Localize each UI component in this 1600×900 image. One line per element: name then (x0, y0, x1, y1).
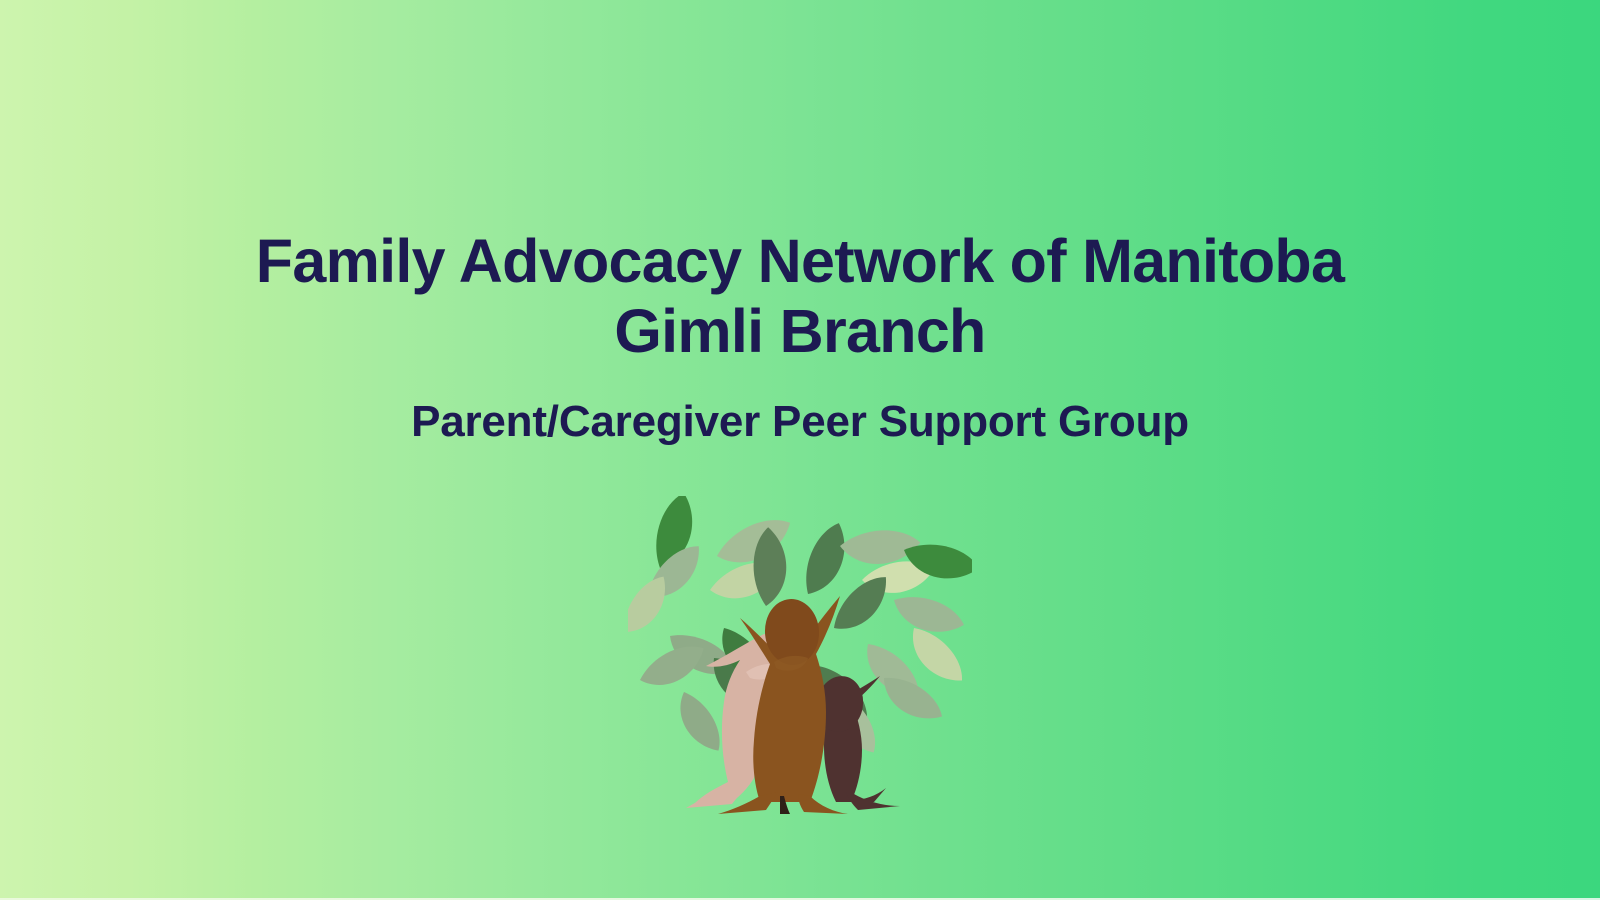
page-subtitle: Parent/Caregiver Peer Support Group (150, 396, 1450, 449)
family-tree-logo-svg (628, 496, 972, 816)
family-tree-logo (628, 496, 972, 816)
page-title: Family Advocacy Network of Manitoba Giml… (100, 226, 1500, 367)
slide-canvas: Family Advocacy Network of Manitoba Giml… (0, 0, 1600, 900)
leaf-icon (674, 686, 725, 759)
leaf-icon (790, 519, 861, 601)
